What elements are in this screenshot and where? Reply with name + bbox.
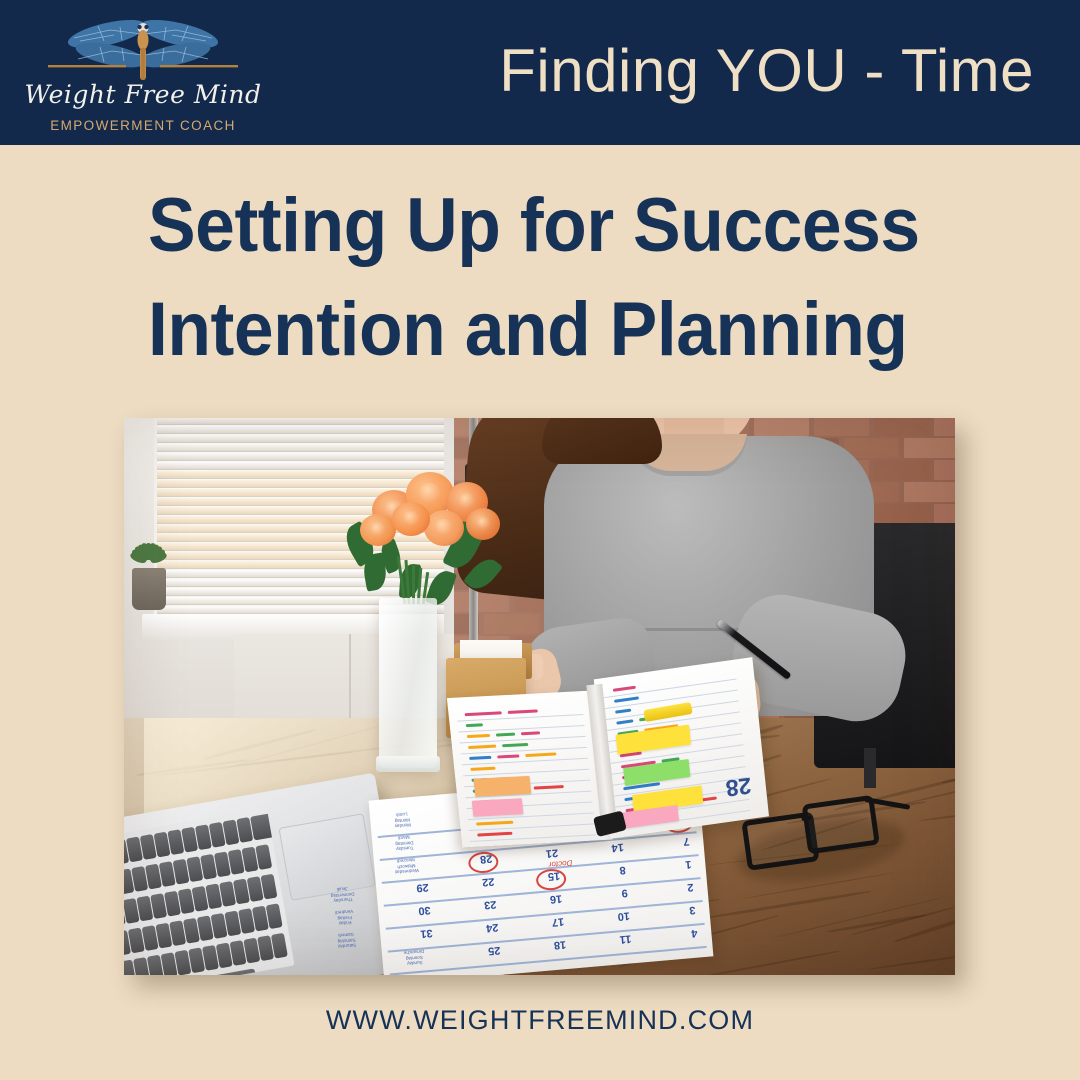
logo-brand-name: Weight Free Mind <box>18 80 268 109</box>
dragonfly-icon <box>18 8 268 88</box>
calendar-date-circle <box>535 868 567 892</box>
calendar-date: 29 <box>416 881 429 894</box>
wood-grain <box>852 906 955 935</box>
woman-hair-front <box>542 418 662 464</box>
sticky-note <box>472 798 524 817</box>
handwriting-mark <box>614 696 639 702</box>
planner-page-number: 28 <box>725 771 753 801</box>
open-planner-notebook: 28 <box>445 653 762 863</box>
calendar-rule <box>386 900 703 929</box>
sticky-note <box>616 725 691 755</box>
rose-bloom <box>466 508 500 540</box>
logo-tagline: EMPOWERMENT COACH <box>18 118 268 133</box>
header-title: Finding YOU - Time <box>499 36 1034 105</box>
calendar-date: 23 <box>483 898 496 911</box>
keyboard-key <box>255 844 272 870</box>
handwriting-mark <box>477 832 513 837</box>
calendar-date: 1 <box>685 858 692 870</box>
keyboard-key <box>250 813 278 841</box>
calendar-weekday-label: Friday Freitag Vendredi <box>324 908 365 928</box>
planner-left-page <box>447 690 613 847</box>
keyboard-key <box>260 874 277 900</box>
calendar-weekday-label: Wednesday Mittwoch Mercredi <box>386 856 427 876</box>
rose-center <box>403 511 419 525</box>
handwriting-mark <box>466 723 483 727</box>
calendar-date: 24 <box>485 921 498 934</box>
white-vase <box>379 598 437 768</box>
page-title: Setting Up for Success Intention and Pla… <box>148 172 948 384</box>
calendar-date: 17 <box>551 915 564 928</box>
social-post-canvas: Weight Free Mind EMPOWERMENT COACH Findi… <box>0 0 1080 1080</box>
handwriting-mark <box>507 709 537 714</box>
laptop-keyboard <box>124 808 295 975</box>
calendar-weekday-label: Monday Montag Lundi <box>382 810 423 830</box>
handwriting-mark <box>613 686 636 692</box>
handwriting-mark <box>467 734 491 738</box>
calendar-weekday-label: Tuesday Dienstag Mardi <box>384 833 425 853</box>
footer-website[interactable]: WWW.WEIGHTFREEMIND.COM <box>0 1005 1080 1036</box>
handwriting-mark <box>476 821 513 826</box>
rose-bouquet <box>342 436 502 616</box>
calendar-date: 18 <box>553 938 566 951</box>
blind-slat <box>157 418 462 425</box>
handwriting-mark <box>502 743 528 747</box>
rose-center <box>458 492 476 509</box>
calendar-annotation: Doctor <box>549 858 573 869</box>
rose-bloom <box>424 510 464 546</box>
rose-bloom <box>360 514 396 546</box>
keyboard-key <box>266 903 283 929</box>
calendar-date: 4 <box>691 927 698 939</box>
calendar-date: 31 <box>420 927 433 940</box>
calendar-date: 2 <box>687 881 694 893</box>
calendar-date: 11 <box>619 932 632 945</box>
calendar-date: 16 <box>549 892 562 905</box>
handwriting-mark <box>468 745 497 749</box>
calendar-weekday-label: Thursday Donnerstag Jeudi <box>322 885 363 905</box>
wood-grain <box>707 890 871 919</box>
calendar-date: 30 <box>418 904 431 917</box>
rose-center <box>370 522 385 535</box>
rose-center <box>419 483 439 501</box>
vase-base <box>376 756 440 772</box>
handwriting-mark <box>534 785 564 790</box>
calendar-date: 9 <box>621 887 628 899</box>
potted-succulent <box>126 536 174 576</box>
calendar-weekday-label: Sunday Sonntag Dimanche <box>394 948 435 968</box>
sticky-note <box>473 776 531 797</box>
rose-center <box>435 519 452 534</box>
handwriting-mark <box>465 711 502 716</box>
handwriting-mark <box>521 731 540 735</box>
glasses-lens-right <box>802 795 880 855</box>
title-line-1: Setting Up for Success <box>148 172 900 280</box>
blind-slat <box>157 426 462 434</box>
wood-grain <box>921 808 955 821</box>
handwriting-mark <box>496 733 515 737</box>
handwriting-mark <box>526 752 557 757</box>
handwriting-mark <box>497 754 520 758</box>
calendar-date: 10 <box>617 909 630 922</box>
handwriting-mark <box>615 709 631 714</box>
chair-post <box>864 748 876 788</box>
wood-grain <box>869 948 955 971</box>
keyboard-key <box>271 933 288 959</box>
rose-center <box>476 516 490 529</box>
calendar-date: 25 <box>487 944 500 957</box>
rose-bloom <box>392 502 430 536</box>
handwriting-mark <box>469 756 491 760</box>
brand-logo[interactable]: Weight Free Mind EMPOWERMENT COACH <box>18 8 268 138</box>
handwriting-mark <box>470 767 495 771</box>
calendar-rule <box>388 923 705 952</box>
calendar-date: 8 <box>619 864 626 876</box>
hero-photo: 5121926Monday Montag Lundi6132027Tuesday… <box>124 418 955 975</box>
title-line-2: Intention and Planning <box>148 276 900 384</box>
calendar-weekday-label: Saturday Samstag Samedi <box>326 930 367 950</box>
handwriting-mark <box>616 719 633 724</box>
calendar-date: 22 <box>481 875 494 888</box>
calendar-date: 3 <box>689 904 696 916</box>
